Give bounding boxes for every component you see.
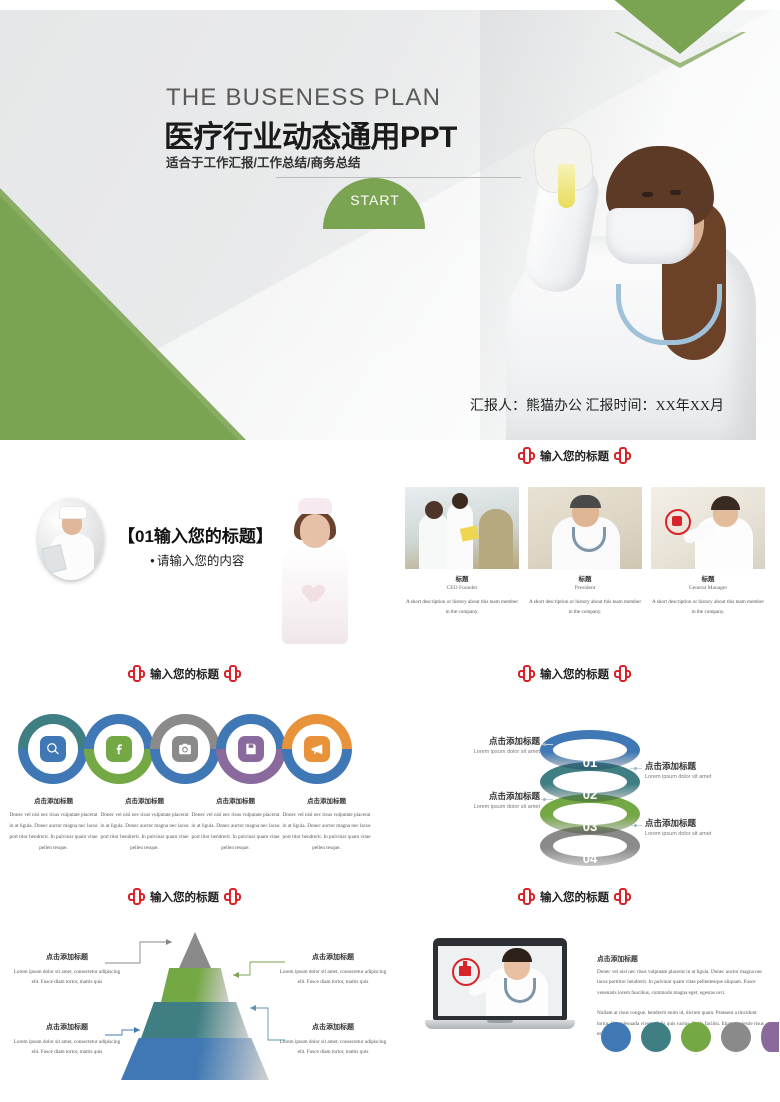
cylinder-label-title: 点击添加标题: [452, 790, 540, 802]
pyramid-box-3: 点击添加标题 Lorem ipsum dolor sit amet, conse…: [12, 1022, 122, 1058]
ring-item-save[interactable]: [216, 714, 286, 784]
team-card-list: 标题 CEO Founder A short description or hi…: [405, 487, 765, 618]
nurse-photo: [268, 498, 362, 644]
cover-doctor-photo: [466, 60, 776, 440]
pyramid-box-title: 点击添加标题: [12, 1022, 122, 1032]
ring-text-columns: 点击添加标题 Donec vel nisl nec risus vulputat…: [8, 795, 372, 854]
cylinder-label-body: Lorem ipsum dolor sit amet: [645, 774, 745, 780]
pyramid-box-body: Lorem ipsum dolor sit amet, consectetur …: [278, 967, 388, 988]
section-title-rings: 输入您的标题: [150, 666, 219, 682]
camera-icon: [172, 736, 198, 762]
team-card[interactable]: 标题 General Manager A short description o…: [651, 487, 765, 618]
laptop-screen-content: [438, 946, 562, 1016]
medical-cross-icon: [518, 665, 535, 682]
green-chevron-icon: [612, 0, 748, 54]
intro-title: 【01输入您的标题】: [118, 522, 273, 547]
cylinder-label-04: 点击添加标题 Lorem ipsum dolor sit amet: [645, 817, 745, 837]
cylinder-label-title: 点击添加标题: [645, 760, 745, 772]
pyramid-box-1: 点击添加标题 Lorem ipsum dolor sit amet, conse…: [12, 952, 122, 988]
stacked-ring-num-04: 04: [540, 851, 640, 866]
medical-cross-icon: [224, 888, 241, 905]
laptop-paragraph-1: Donec vel nisl nec risus vulputate place…: [597, 967, 765, 998]
ring-column-body: Donec vel nisl nec risus vulputate place…: [281, 810, 372, 854]
pyramid-level-1[interactable]: [179, 932, 211, 968]
doctor-eye-left: [642, 192, 653, 197]
section-header-laptop: 输入您的标题: [518, 888, 631, 905]
team-card[interactable]: 标题 CEO Founder A short description or hi…: [405, 487, 519, 618]
green-triangle-decoration: [0, 196, 238, 440]
start-button-label: START: [345, 192, 405, 208]
intro-bullet: 请输入您的内容: [150, 550, 244, 569]
pyramid-box-body: Lorem ipsum dolor sit amet, consectetur …: [12, 1037, 122, 1058]
cylinder-label-body: Lorem ipsum dolor sit amet: [452, 804, 540, 810]
cover-english-title: THE BUSENESS PLAN: [166, 84, 441, 112]
medical-cross-icon: [128, 665, 145, 682]
laptop-title: 点击添加标题: [597, 953, 765, 963]
cylinder-connector-dot: [543, 743, 546, 746]
nurse-cap-icon: [298, 498, 332, 514]
cylinder-connector-dot: [634, 767, 637, 770]
section-title-laptop: 输入您的标题: [540, 889, 609, 905]
nurse-head: [300, 514, 330, 548]
medical-cross-icon: [518, 888, 535, 905]
medical-bag-icon: [452, 958, 480, 986]
presenter-line: 汇报人：熊猫办公 汇报时间：XX年XX月: [470, 398, 770, 417]
presentation-preview: THE BUSENESS PLAN 医疗行业动态通用PPT 适合于工作汇报/工作…: [0, 0, 780, 1102]
pyramid-box-title: 点击添加标题: [278, 952, 388, 962]
ring-item-camera[interactable]: [150, 714, 220, 784]
cover-title: 医疗行业动态通用PPT: [164, 112, 457, 156]
heart-hands-icon: [304, 584, 326, 604]
team-description: A short description or history about thi…: [528, 598, 642, 618]
pyramid-box-4: 点击添加标题 Lorem ipsum dolor sit amet, conse…: [278, 1022, 388, 1058]
team-description: A short description or history about thi…: [405, 598, 519, 618]
section-header-pyramid: 输入您的标题: [128, 888, 241, 905]
laptop-doctor-hair: [502, 948, 532, 962]
team-role: CEO Founder: [405, 585, 519, 591]
team-name: 标题: [528, 573, 642, 583]
pyramid-diagram: [115, 930, 275, 1085]
team-photo: [528, 487, 642, 569]
doctor-eye-right: [670, 190, 681, 195]
cover-divider: [276, 177, 521, 178]
cylinder-label-01: 点击添加标题 Lorem ipsum dolor sit amet: [452, 735, 540, 755]
ring-column-title: 点击添加标题: [99, 795, 190, 805]
ring-column-body: Donec vel nisl nec risus vulputate place…: [190, 810, 281, 854]
color-swatch-1[interactable]: [601, 1022, 631, 1052]
face-mask: [606, 208, 694, 264]
stacked-ring-num-02: 02: [540, 787, 640, 802]
pyramid-box-2: 点击添加标题 Lorem ipsum dolor sit amet, conse…: [278, 952, 388, 988]
medical-cross-icon: [518, 447, 535, 464]
ring-item-facebook[interactable]: [84, 714, 154, 784]
pyramid-box-body: Lorem ipsum dolor sit amet, consectetur …: [12, 967, 122, 988]
intro-avatar: [38, 498, 104, 580]
pyramid-box-body: Lorem ipsum dolor sit amet, consectetur …: [278, 1037, 388, 1058]
ring-column-body: Donec vel nisl nec risus vulputate place…: [99, 810, 190, 854]
cover-slide: THE BUSENESS PLAN 医疗行业动态通用PPT 适合于工作汇报/工作…: [0, 0, 780, 440]
save-icon: [238, 736, 264, 762]
section-title-team: 输入您的标题: [540, 448, 609, 464]
pyramid-level-4[interactable]: [121, 1038, 269, 1080]
section-header-team: 输入您的标题: [518, 447, 631, 464]
cylinder-label-title: 点击添加标题: [645, 817, 745, 829]
section-title-cylinder: 输入您的标题: [540, 666, 609, 682]
ring-item-search[interactable]: [18, 714, 88, 784]
team-name: 标题: [405, 573, 519, 583]
color-swatch-4[interactable]: [721, 1022, 751, 1052]
team-photo: [651, 487, 765, 569]
section-title-pyramid: 输入您的标题: [150, 889, 219, 905]
pyramid-level-2[interactable]: [161, 968, 229, 1002]
team-photo: [405, 487, 519, 569]
megaphone-icon: [304, 736, 330, 762]
pyramid-box-title: 点击添加标题: [12, 952, 122, 962]
search-icon: [40, 736, 66, 762]
cylinder-label-03: 点击添加标题 Lorem ipsum dolor sit amet: [452, 790, 540, 810]
team-card[interactable]: 标题 President A short description or hist…: [528, 487, 642, 618]
color-swatch-3[interactable]: [681, 1022, 711, 1052]
cylinder-connector-dot: [634, 824, 637, 827]
laptop-screen: [433, 938, 567, 1020]
cylinder-label-body: Lorem ipsum dolor sit amet: [645, 831, 745, 837]
color-swatch-5[interactable]: [761, 1022, 779, 1052]
ring-text-column: 点击添加标题 Donec vel nisl nec risus vulputat…: [190, 795, 281, 854]
ring-item-megaphone[interactable]: [282, 714, 352, 784]
ring-column-title: 点击添加标题: [190, 795, 281, 805]
section-header-rings: 输入您的标题: [128, 665, 241, 682]
medical-cross-icon: [614, 447, 631, 464]
cylinder-connector-dot: [543, 798, 546, 801]
ring-text-column: 点击添加标题 Donec vel nisl nec risus vulputat…: [8, 795, 99, 854]
ring-text-column: 点击添加标题 Donec vel nisl nec risus vulputat…: [99, 795, 190, 854]
stacked-ring-num-03: 03: [540, 819, 640, 834]
medical-cross-icon: [128, 888, 145, 905]
cylinder-label-body: Lorem ipsum dolor sit amet: [452, 749, 540, 755]
facebook-icon: [106, 736, 132, 762]
team-name: 标题: [651, 573, 765, 583]
section-header-cylinder: 输入您的标题: [518, 665, 631, 682]
medical-cross-icon: [614, 665, 631, 682]
test-tube-icon: [558, 164, 575, 208]
cover-subtitle: 适合于工作汇报/工作总结/商务总结: [166, 152, 360, 171]
medical-cross-icon: [224, 665, 241, 682]
cylinder-label-02: 点击添加标题 Lorem ipsum dolor sit amet: [645, 760, 745, 780]
team-role: President: [528, 585, 642, 591]
stacked-ring-num-01: 01: [540, 755, 640, 770]
ring-column-body: Donec vel nisl nec risus vulputate place…: [8, 810, 99, 854]
nurse-cap-icon: [59, 506, 87, 519]
color-swatch-2[interactable]: [641, 1022, 671, 1052]
medical-cross-icon: [614, 888, 631, 905]
laptop-trackpad-notch: [487, 1020, 513, 1023]
ring-icon-row: [18, 714, 368, 784]
ring-column-title: 点击添加标题: [8, 795, 99, 805]
ring-text-column: 点击添加标题 Donec vel nisl nec risus vulputat…: [281, 795, 372, 854]
stacked-ring-diagram: 04 03 02 01: [540, 726, 640, 866]
cylinder-label-title: 点击添加标题: [452, 735, 540, 747]
team-description: A short description or history about thi…: [651, 598, 765, 618]
team-role: General Manager: [651, 585, 765, 591]
pyramid-box-title: 点击添加标题: [278, 1022, 388, 1032]
ring-column-title: 点击添加标题: [281, 795, 372, 805]
pyramid-level-3[interactable]: [141, 1002, 249, 1038]
laptop-mockup: [425, 938, 575, 1038]
